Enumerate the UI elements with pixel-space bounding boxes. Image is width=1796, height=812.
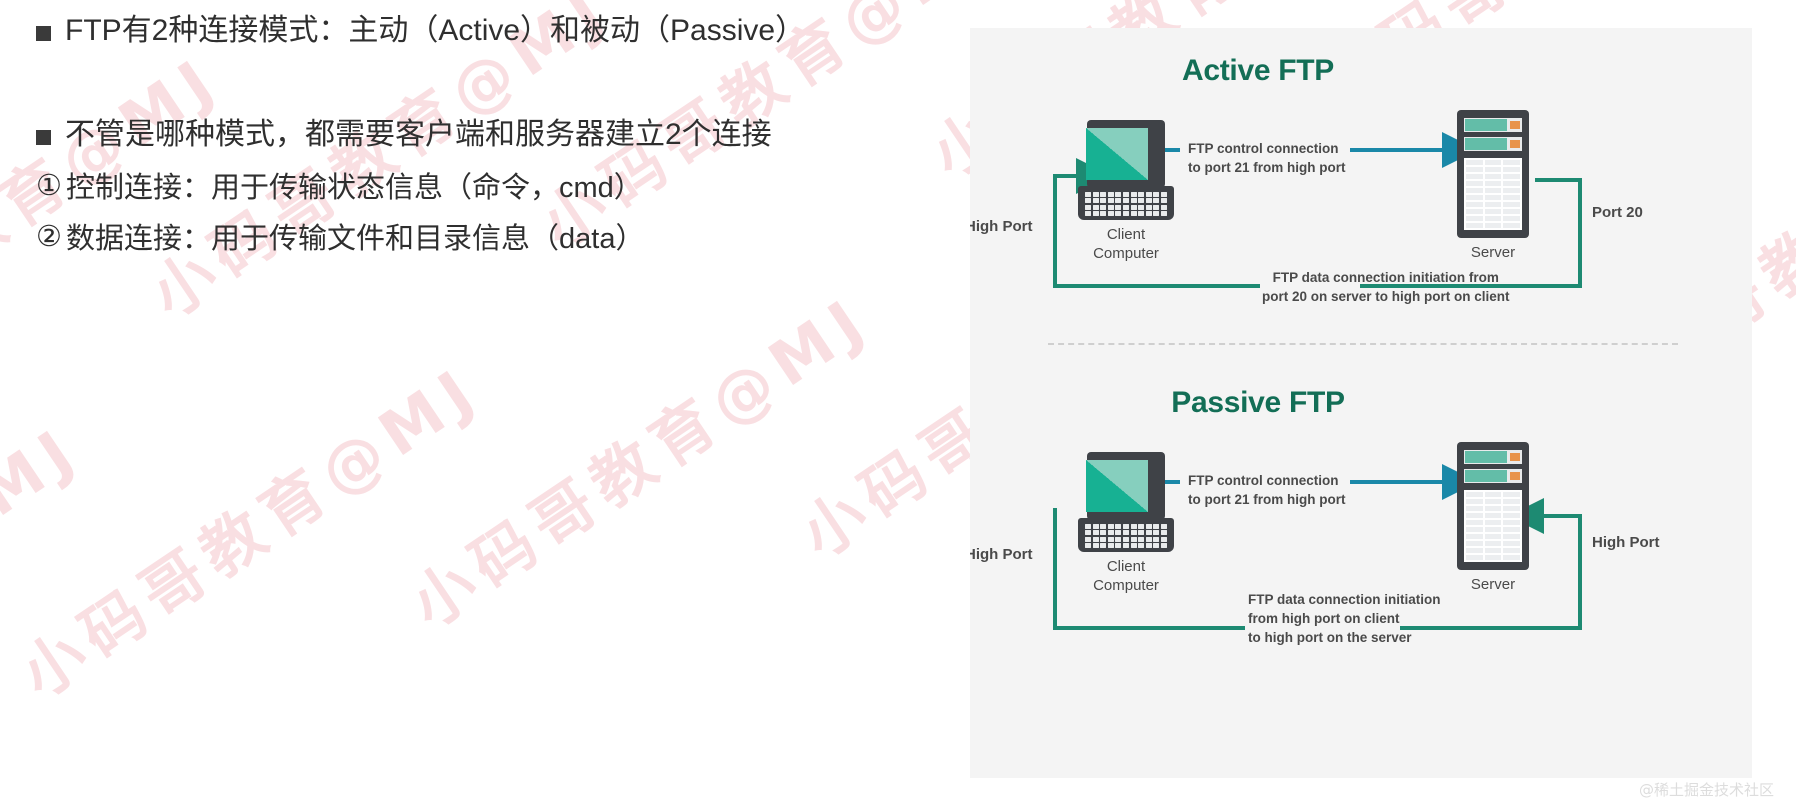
data-line2: from high port on client [1248,610,1398,629]
bullet-item-1: FTP有2种连接模式：主动（Active）和被动（Passive） [36,14,805,49]
server-bay-2 [1464,137,1522,151]
square-bullet-icon [36,130,51,145]
server-caption-passive: Server [1443,576,1543,595]
client-computer-icon-active [1078,120,1174,220]
control-connection-label-active: FTP control connection to port 21 from h… [1188,140,1346,178]
server-icon-passive [1457,442,1529,570]
section-divider [1048,343,1678,345]
server-bay-2 [1464,469,1522,483]
server-led-icon [1510,472,1520,480]
server-led-icon [1510,140,1520,148]
control-line1: FTP control connection [1188,140,1346,159]
passive-ftp-title: Passive FTP [1058,386,1458,420]
client-caption-line2: Computer [1066,245,1186,264]
server-caption-label: Server [1443,576,1543,595]
server-slot-grid [1464,158,1522,230]
client-caption-passive: Client Computer [1066,558,1186,596]
server-caption-label: Server [1443,244,1543,263]
left-port-label-active: High Port [970,218,1033,235]
server-led-icon [1510,453,1520,461]
right-port-label-passive: High Port [1592,534,1660,551]
control-line2: to port 21 from high port [1188,491,1346,510]
server-slot-grid [1464,490,1522,562]
server-icon-active [1457,110,1529,238]
ftp-diagram-panel: Active FTP Client Computer Server FTP co… [970,28,1752,778]
numbered-item-2: ② 数据连接：用于传输文件和目录信息（data） [36,223,644,256]
square-bullet-icon [36,26,51,41]
client-caption-line1: Client [1066,558,1186,577]
control-line1: FTP control connection [1188,472,1346,491]
numbered-item-2-label: 数据连接：用于传输文件和目录信息（data） [66,223,644,256]
bullet-item-1-label: FTP有2种连接模式：主动（Active）和被动（Passive） [65,14,805,49]
data-line1: FTP data connection initiation from [1262,269,1510,288]
control-line2: to port 21 from high port [1188,159,1346,178]
data-line3: to high port on the server [1248,629,1398,648]
numbered-item-1-label: 控制连接：用于传输状态信息（命令，cmd） [66,172,643,205]
data-connection-label-active: FTP data connection initiation from port… [1262,269,1510,307]
right-port-label-active: Port 20 [1592,204,1643,221]
server-caption-active: Server [1443,244,1543,263]
numbered-item-1: ① 控制连接：用于传输状态信息（命令，cmd） [36,172,643,205]
bullet-item-2: 不管是哪种模式，都需要客户端和服务器建立2个连接 [36,118,772,153]
data-connection-label-passive: FTP data connection initiation from high… [1248,591,1398,648]
circled-number-one-icon: ① [36,172,66,201]
laptop-screen [1086,128,1148,180]
client-caption-active: Client Computer [1066,226,1186,264]
server-bay-1 [1464,450,1522,464]
bullet-item-2-label: 不管是哪种模式，都需要客户端和服务器建立2个连接 [65,118,772,153]
server-bay-1 [1464,118,1522,132]
data-line1: FTP data connection initiation [1248,591,1398,610]
circled-number-two-icon: ② [36,223,66,252]
server-led-icon [1510,121,1520,129]
laptop-keyboard [1085,524,1167,548]
laptop-screen [1086,460,1148,512]
data-line2: port 20 on server to high port on client [1262,288,1510,307]
slide-text-column: FTP有2种连接模式：主动（Active）和被动（Passive） 不管是哪种模… [0,0,960,812]
laptop-keyboard [1085,192,1167,216]
active-ftp-title: Active FTP [1058,54,1458,88]
client-caption-line2: Computer [1066,577,1186,596]
control-connection-label-passive: FTP control connection to port 21 from h… [1188,472,1346,510]
footer-credit-watermark: @稀土掘金技术社区 [1639,779,1774,800]
client-computer-icon-passive [1078,452,1174,552]
client-caption-line1: Client [1066,226,1186,245]
left-port-label-passive: High Port [970,546,1033,563]
